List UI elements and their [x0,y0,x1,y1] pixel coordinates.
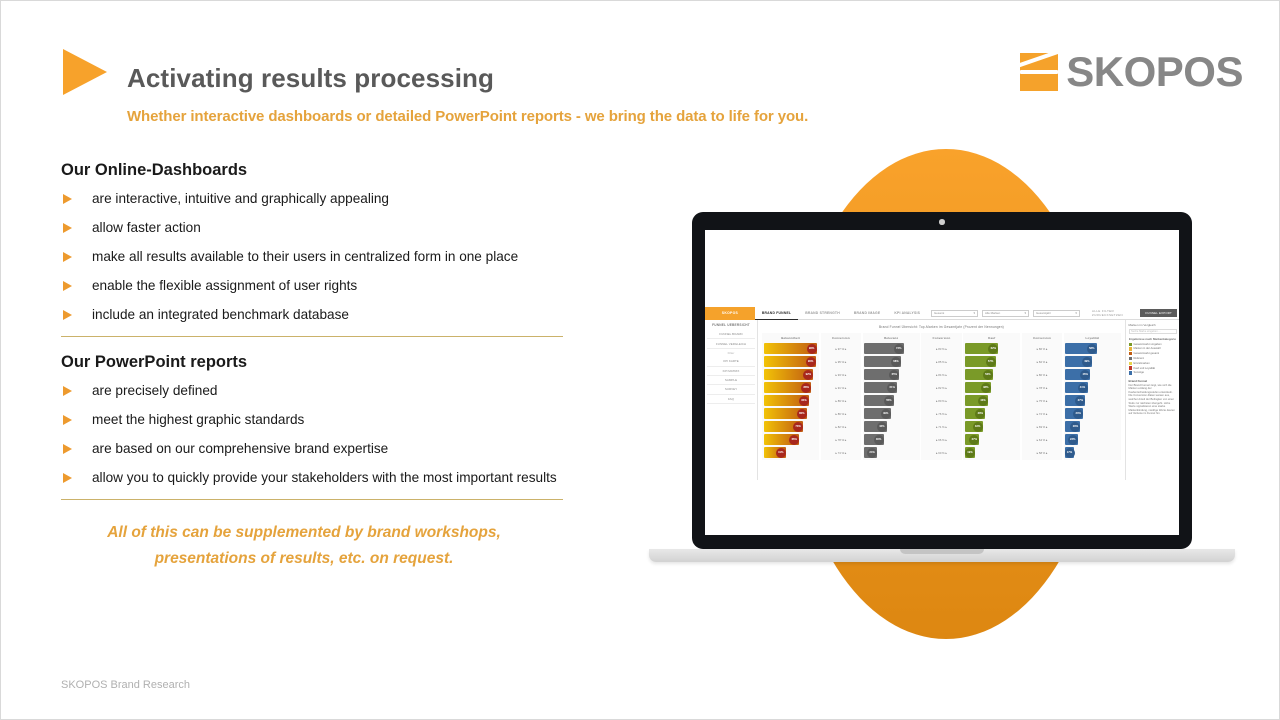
value-badge: 62% [988,344,998,354]
value-badge: 24% [867,448,877,458]
note-text: Der Brand Funnel zeigt, wie sich die Mar… [1129,384,1177,416]
bar-cell: 42% [864,421,918,432]
table-row: 49% [864,407,918,420]
legend: Gesamtmarkt vorgabenMarken in der Auswah… [1129,343,1177,375]
legend-swatch [1129,343,1132,346]
funnel-column-relevance: Relevanz 73%68%65%61%55%49%42%36%24% [863,333,920,460]
legend-item: Referenz [1129,357,1177,360]
table-row: 49% [1065,355,1119,368]
legend-swatch [1129,357,1132,360]
legend-swatch [1129,352,1132,355]
bar-cell: 24% [864,447,918,458]
list-item: allow you to quickly provide your stakeh… [61,468,581,488]
list-item-label: make all results available to their user… [92,249,518,264]
chart-title: Brand Funnel Übersicht: Top-Marken im Ge… [760,322,1123,333]
bar-cell: 46% [1065,369,1119,380]
sidebar-item-sample[interactable]: SAMPLE [707,376,755,385]
value-badge: 42% [877,422,887,432]
bar-cell: 73% [764,421,818,432]
bar-cell: 80% [764,408,818,419]
value-badge: 84% [799,396,809,406]
bar-cell: 41% [1065,382,1119,393]
value-badge: 80% [797,409,807,419]
conversion-value: ▸ 97 % ▸ [822,347,859,351]
value-badge: 68% [891,357,901,367]
bar-cell: 38% [965,408,1019,419]
triangle-bullet-icon [63,194,72,204]
note-heading: Brand Funnel [1129,379,1177,383]
value-badge: 73% [894,344,904,354]
table-row: 23% [1065,433,1119,446]
conversion-value: ▸ 58 % ▸ [1023,451,1060,455]
column-header: Conversion [1023,334,1060,342]
search-placeholder: Suche Marke eingeben ... [1131,330,1161,333]
table-row: 19% [965,446,1019,459]
conversion-value: ▸ 60 % ▸ [923,451,960,455]
bar-cell: 92% [764,369,818,380]
table-row: 92% [764,368,818,381]
triangle-bullet-icon [63,444,72,454]
table-row: 38% [965,407,1019,420]
bar-cell: 33% [1065,408,1119,419]
funnel-column-loyalty: Loyalität 58%49%46%41%37%33%28%23%17% [1064,333,1121,460]
dashboard-app: SKOPOS BRAND FUNNEL BRAND STRENGTH BRAND… [705,307,1179,480]
conversion-value: ▸ 75 % ▸ [1023,399,1060,403]
value-badge: 73% [793,422,803,432]
table-row: 33% [1065,407,1119,420]
conversion-value: ▸ 93 % ▸ [822,373,859,377]
legend-item: Marken in der Auswahl [1129,347,1177,350]
table-row: ▸ 97 % ▸ [822,342,859,355]
filter-select-3[interactable]: Gesamtjahr▾ [1033,310,1080,317]
table-row: ▸ 76 % ▸ [923,407,960,420]
bar-cell: 23% [1065,434,1119,445]
slide-root: Activating results processing Whether in… [0,0,1280,720]
list-item: meet the highest graphic standards [61,410,581,430]
conversion-value: ▸ 95 % ▸ [822,360,859,364]
conversion-value: ▸ 72 % ▸ [1023,412,1060,416]
table-row: ▸ 82 % ▸ [1023,355,1060,368]
conversion-value: ▸ 86 % ▸ [1023,347,1060,351]
value-badge: 33% [973,422,983,432]
table-row: 62% [965,342,1019,355]
section-heading: Our Online-Dashboards [61,161,581,180]
conversion-value: ▸ 82 % ▸ [822,425,859,429]
table-row: ▸ 82 % ▸ [822,420,859,433]
value-badge: 98% [807,344,817,354]
table-row: ▸ 95 % ▸ [822,355,859,368]
table-row: 61% [864,381,918,394]
laptop-base [649,549,1235,562]
value-badge: 33% [1073,409,1083,419]
bar-cell: 68% [864,356,918,367]
table-row: 73% [764,420,818,433]
value-badge: 66% [789,435,799,445]
list-item-label: are based on our comprehensive brand exp… [92,441,388,456]
filter-select-2-value: Alle Marken [985,311,1000,315]
value-badge: 37% [1075,396,1085,406]
table-row: ▸ 72 % ▸ [1023,407,1060,420]
table-row: 66% [764,433,818,446]
bar-cell: 17% [1065,447,1119,458]
list-item-label: include an integrated benchmark database [92,307,349,322]
bar-cell: 73% [864,343,918,354]
funnel-column-conversion-3: Conversion ▸ 86 % ▸▸ 82 % ▸▸ 80 % ▸▸ 78 … [1022,333,1062,460]
value-badge: 36% [874,435,884,445]
list-item: allow faster action [61,218,581,238]
laptop-mockup: SKOPOS BRAND FUNNEL BRAND STRENGTH BRAND… [649,212,1235,562]
column-header: Kauf [965,334,1019,342]
conversion-value: ▸ 71 % ▸ [923,425,960,429]
tab-kpi-analysis[interactable]: KPI ANALYSIS [887,311,927,315]
funnel-chart: Bekanntheit 98%96%92%88%84%80%73%66%41% … [760,333,1123,460]
section-online-dashboards: Our Online-Dashboards are interactive, i… [61,161,581,337]
list-item-label: meet the highest graphic standards [92,412,304,427]
bar-cell: 49% [864,408,918,419]
logo-wordmark: SKOPOS [1066,51,1243,93]
skopos-square-mark-icon [1020,53,1058,91]
sidebar-item-funnel-board[interactable]: FUNNEL BOARD [707,330,755,339]
conversion-value: ▸ 78 % ▸ [822,438,859,442]
legend-item: Kauf und Loyalität [1129,366,1177,369]
bar-cell: 48% [965,382,1019,393]
conversion-value: ▸ 80 % ▸ [1023,373,1060,377]
table-row: 80% [764,407,818,420]
legend-label: Marken in der Auswahl [1133,347,1160,350]
legend-swatch [1129,371,1132,374]
funnel-column-conversion-2: Conversion ▸ 83 % ▸▸ 85 % ▸▸ 84 % ▸▸ 82 … [921,333,961,460]
bar-cell: 43% [965,395,1019,406]
brand-search-input[interactable]: Suche Marke eingeben ... [1129,329,1177,334]
legend-swatch [1129,347,1132,350]
webcam-icon [939,219,945,225]
conversion-value: ▸ 69 % ▸ [1023,425,1060,429]
bar-cell: 49% [1065,356,1119,367]
table-row: 73% [864,342,918,355]
table-row: ▸ 89 % ▸ [822,394,859,407]
legend-item: Gesamtmarkt vorgaben [1129,343,1177,346]
dashboard-navbar: SKOPOS BRAND FUNNEL BRAND STRENGTH BRAND… [705,307,1179,320]
conversion-value: ▸ 80 % ▸ [923,399,960,403]
bar-cell: 61% [864,382,918,393]
bar-cell: 65% [864,369,918,380]
legend-label: Gesamtmarkt vorgaben [1133,343,1161,346]
skopos-logo: SKOPOS [1020,51,1243,93]
table-row: 88% [764,381,818,394]
legend-item: Sonstige [1129,371,1177,374]
triangle-bullet-icon [63,281,72,291]
table-row: 57% [965,355,1019,368]
column-header: Bekanntheit [764,334,818,342]
filter-select-3-value: Gesamtjahr [1036,311,1051,315]
value-badge: 28% [1070,422,1080,432]
table-row: ▸ 80 % ▸ [1023,368,1060,381]
conversion-value: ▸ 78 % ▸ [1023,386,1060,390]
table-row: 28% [1065,420,1119,433]
column-header: Loyalität [1065,334,1119,342]
table-row: 65% [864,368,918,381]
table-row: ▸ 69 % ▸ [1023,420,1060,433]
list-item-label: enable the flexible assignment of user r… [92,278,357,293]
value-badge: 48% [981,383,991,393]
bullet-list: are precisely defined meet the highest g… [61,381,581,488]
tab-brand-image[interactable]: BRAND IMAGE [847,311,888,315]
laptop-lid: SKOPOS BRAND FUNNEL BRAND STRENGTH BRAND… [692,212,1192,549]
sidebar-heading: FUNNEL UEBERSICHT [707,323,755,327]
conversion-value: ▸ 91 % ▸ [822,386,859,390]
bar-cell: 37% [1065,395,1119,406]
table-row: ▸ 84 % ▸ [923,368,960,381]
value-badge: 41% [1078,383,1088,393]
table-row: ▸ 93 % ▸ [822,368,859,381]
section-divider [61,499,563,500]
value-badge: 49% [1082,357,1092,367]
list-item: are interactive, intuitive and graphical… [61,189,581,209]
conversion-value: ▸ 85 % ▸ [923,360,960,364]
legend-item: Einzelmarken [1129,362,1177,365]
value-badge: 19% [965,448,975,458]
conversion-value: ▸ 89 % ▸ [822,399,859,403]
sidebar-item-survey[interactable]: SURVEY [707,385,755,394]
chevron-down-icon: ▾ [1075,311,1077,315]
table-row: 58% [1065,342,1119,355]
dashboard-body: FUNNEL UEBERSICHT FUNNEL BOARD FUNNEL VE… [705,320,1179,480]
value-badge: 52% [983,370,993,380]
legend-label: Referenz [1133,357,1144,360]
triangle-bullet-icon [63,310,72,320]
chevron-down-icon: ▾ [973,311,975,315]
closing-statement: All of this can be supplemented by brand… [89,520,519,572]
conversion-value: ▸ 66 % ▸ [923,438,960,442]
table-row: ▸ 60 % ▸ [923,446,960,459]
conversion-value: ▸ 64 % ▸ [1023,438,1060,442]
list-item: are precisely defined [61,381,581,401]
list-item-label: are interactive, intuitive and graphical… [92,191,389,206]
table-row: 96% [764,355,818,368]
value-badge: 57% [986,357,996,367]
table-row: 17% [1065,446,1119,459]
legend-label: Einzelmarken [1133,362,1149,365]
value-badge: 55% [884,396,894,406]
page-subtitle: Whether interactive dashboards or detail… [127,108,808,125]
list-item: are based on our comprehensive brand exp… [61,439,581,459]
table-row: ▸ 86 % ▸ [1023,342,1060,355]
bar-cell: 19% [965,447,1019,458]
bar-cell: 33% [965,421,1019,432]
filter-select-1[interactable]: Gesamt▾ [931,310,978,317]
value-badge: 61% [887,383,897,393]
dashboard-chart-area: Brand Funnel Übersicht: Top-Marken im Ge… [758,320,1125,480]
table-row: 42% [864,420,918,433]
dashboard-brand-logo: SKOPOS [705,307,755,320]
value-badge: 38% [975,409,985,419]
table-row: ▸ 85 % ▸ [923,355,960,368]
right-panel-title: Marken im Vergleich [1129,323,1177,327]
table-row: ▸ 75 % ▸ [1023,394,1060,407]
list-item: include an integrated benchmark database [61,305,581,325]
list-item-label: allow you to quickly provide your stakeh… [92,470,557,485]
triangle-bullet-icon [63,473,72,483]
table-row: ▸ 82 % ▸ [923,381,960,394]
value-badge: 96% [806,357,816,367]
list-item-label: are precisely defined [92,383,217,398]
value-badge: 23% [1068,435,1078,445]
triangle-bullet-icon [63,386,72,396]
value-badge: 17% [1065,448,1075,458]
value-badge: 65% [889,370,899,380]
bar-cell: 41% [764,447,818,458]
column-header: Conversion [923,334,960,342]
filter-select-1-value: Gesamt [934,311,944,315]
table-row: 36% [864,433,918,446]
footer-text: SKOPOS Brand Research [61,679,190,691]
table-row: 24% [864,446,918,459]
reset-filters-link[interactable]: ALLE FILTER ZURUECKSETZEN [1092,309,1140,317]
table-row: ▸ 83 % ▸ [923,342,960,355]
table-row: 43% [965,394,1019,407]
value-badge: 92% [803,370,813,380]
section-powerpoint-reports: Our PowerPoint reports are precisely def… [61,353,581,500]
legend-swatch [1129,366,1132,369]
sidebar-item-kpi-matrix[interactable]: KPI MATRIX [707,367,755,376]
bar-cell: 88% [764,382,818,393]
table-row: ▸ 80 % ▸ [923,394,960,407]
conversion-value: ▸ 84 % ▸ [923,373,960,377]
table-row: 55% [864,394,918,407]
table-row: 46% [1065,368,1119,381]
table-row: 98% [764,342,818,355]
section-heading: Our PowerPoint reports [61,353,581,372]
conversion-value: ▸ 74 % ▸ [822,451,859,455]
table-row: 41% [1065,381,1119,394]
bar-cell: 28% [1065,421,1119,432]
value-badge: 49% [881,409,891,419]
legend-label: Kauf und Loyalität [1133,367,1155,370]
bar-cell: 55% [864,395,918,406]
triangle-bullet-icon [63,223,72,233]
table-row: ▸ 74 % ▸ [822,446,859,459]
table-row: 41% [764,446,818,459]
funnel-column-awareness: Bekanntheit 98%96%92%88%84%80%73%66%41% [762,333,819,460]
conversion-value: ▸ 82 % ▸ [923,386,960,390]
page-title: Activating results processing [127,63,494,94]
table-row: 37% [1065,394,1119,407]
header-arrow-icon [63,49,107,95]
sidebar-item-kpi-karte[interactable]: KPI KARTE [707,357,755,366]
value-badge: 27% [969,435,979,445]
table-row: 48% [965,381,1019,394]
table-row: 52% [965,368,1019,381]
table-row: 33% [965,420,1019,433]
table-row: ▸ 66 % ▸ [923,433,960,446]
bar-cell: 62% [965,343,1019,354]
value-badge: 88% [801,383,811,393]
tab-brand-strength[interactable]: BRAND STRENGTH [798,311,847,315]
value-badge: 46% [1080,370,1090,380]
laptop-screen: SKOPOS BRAND FUNNEL BRAND STRENGTH BRAND… [705,230,1179,535]
bar-cell: 84% [764,395,818,406]
conversion-value: ▸ 83 % ▸ [923,347,960,351]
legend-title: Ergebnisse nach Markenkategorie [1129,337,1177,341]
column-header: Conversion [822,334,859,342]
export-button[interactable]: FUNNEL EXPORT [1140,309,1177,317]
value-badge: 43% [978,396,988,406]
conversion-value: ▸ 86 % ▸ [822,412,859,416]
table-row: ▸ 78 % ▸ [822,433,859,446]
dashboard-sidebar: FUNNEL UEBERSICHT FUNNEL BOARD FUNNEL VE… [705,320,758,480]
content-column: Our Online-Dashboards are interactive, i… [61,161,581,572]
bullet-list: are interactive, intuitive and graphical… [61,189,581,325]
funnel-column-purchase: Kauf 62%57%52%48%43%38%33%27%19% [963,333,1020,460]
value-badge: 41% [776,448,786,458]
list-item: make all results available to their user… [61,247,581,267]
column-header: Relevanz [864,334,918,342]
legend-label: Sonstige [1133,371,1143,374]
bar-cell: 98% [764,343,818,354]
filter-select-2[interactable]: Alle Marken▾ [982,310,1029,317]
sidebar-item-funnel-vergleich[interactable]: FUNNEL VERGLEICH [707,339,755,348]
legend-item: Gesamtmarkt gesamt [1129,352,1177,355]
bar-cell: 52% [965,369,1019,380]
laptop-notch [900,549,984,554]
table-row: 68% [864,355,918,368]
table-row: ▸ 71 % ▸ [923,420,960,433]
table-row: ▸ 58 % ▸ [1023,446,1060,459]
tab-brand-funnel[interactable]: BRAND FUNNEL [755,307,798,320]
list-item-label: allow faster action [92,220,201,235]
funnel-column-conversion-1: Conversion ▸ 97 % ▸▸ 95 % ▸▸ 93 % ▸▸ 91 … [821,333,861,460]
legend-swatch [1129,362,1132,365]
table-row: ▸ 78 % ▸ [1023,381,1060,394]
conversion-value: ▸ 82 % ▸ [1023,360,1060,364]
dashboard-right-panel: Marken im Vergleich Suche Marke eingeben… [1125,320,1179,480]
table-row: 27% [965,433,1019,446]
sidebar-item-filter: Filter [707,349,755,357]
bar-cell: 66% [764,434,818,445]
table-row: ▸ 91 % ▸ [822,381,859,394]
list-item: enable the flexible assignment of user r… [61,276,581,296]
triangle-bullet-icon [63,252,72,262]
bar-cell: 27% [965,434,1019,445]
table-row: ▸ 86 % ▸ [822,407,859,420]
value-badge: 58% [1087,344,1097,354]
sidebar-item-faq[interactable]: FAQ [707,395,755,404]
conversion-value: ▸ 76 % ▸ [923,412,960,416]
table-row: 84% [764,394,818,407]
section-divider [61,336,563,337]
table-row: ▸ 64 % ▸ [1023,433,1060,446]
bar-cell: 36% [864,434,918,445]
bar-cell: 58% [1065,343,1119,354]
bar-cell: 57% [965,356,1019,367]
triangle-bullet-icon [63,415,72,425]
chevron-down-icon: ▾ [1024,311,1026,315]
bar-cell: 96% [764,356,818,367]
legend-label: Gesamtmarkt gesamt [1133,352,1159,355]
